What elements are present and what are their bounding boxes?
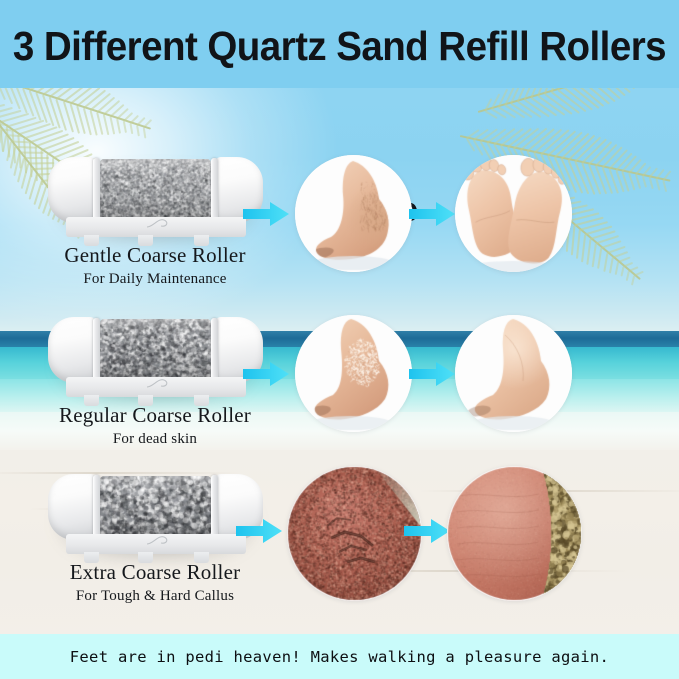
roller-body bbox=[48, 317, 263, 383]
roller-ring-left bbox=[93, 318, 100, 382]
brand-squiggle-icon bbox=[144, 375, 174, 391]
product-infographic: 3 Different Quartz Sand Refill Rollers B… bbox=[0, 0, 679, 679]
arrow-right-icon bbox=[243, 361, 289, 387]
soles-of-smooth-feet bbox=[455, 155, 572, 272]
roller-ring-right bbox=[211, 318, 218, 382]
drum-shading bbox=[100, 159, 211, 221]
product-row-gentle: Gentle Coarse Roller For Daily Maintenan… bbox=[0, 143, 679, 303]
arrow-right-icon bbox=[236, 518, 282, 544]
foot-side-view-rough-heel bbox=[295, 155, 412, 272]
arrow-right-icon bbox=[404, 518, 450, 544]
roller-use-regular: For dead skin bbox=[0, 431, 310, 448]
after-photo-gentle bbox=[455, 155, 572, 272]
drum-shading bbox=[100, 319, 211, 381]
roller-name-extra: Extra Coarse Roller bbox=[0, 560, 310, 585]
header-banner: 3 Different Quartz Sand Refill Rollers bbox=[0, 0, 679, 88]
roller-body bbox=[48, 474, 263, 540]
roller-end-cap-left bbox=[48, 474, 96, 540]
roller-ring-left bbox=[93, 158, 100, 222]
arrow-right-icon bbox=[243, 201, 289, 227]
heel-with-dead-skin bbox=[295, 315, 412, 432]
macro-cracked-callus bbox=[287, 466, 422, 601]
roller-device-gentle[interactable] bbox=[48, 151, 263, 247]
roller-device-regular[interactable] bbox=[48, 311, 263, 407]
footer-caption-text: Feet are in pedi heaven! Makes walking a… bbox=[70, 648, 609, 666]
arrow-right-icon bbox=[409, 361, 455, 387]
quartz-sand-drum bbox=[100, 476, 211, 538]
drum-shading bbox=[100, 476, 211, 538]
roller-use-extra: For Tough & Hard Callus bbox=[0, 588, 310, 605]
page-title: 3 Different Quartz Sand Refill Rollers bbox=[13, 26, 666, 67]
quartz-sand-drum bbox=[100, 159, 211, 221]
brand-squiggle-icon bbox=[144, 215, 174, 231]
product-row-regular: Regular Coarse Roller For dead skin bbox=[0, 303, 679, 463]
after-photo-extra bbox=[447, 466, 582, 601]
product-row-extra: Extra Coarse Roller For Tough & Hard Cal… bbox=[0, 460, 679, 620]
brand-squiggle-icon bbox=[144, 532, 174, 548]
before-photo-regular bbox=[295, 315, 412, 432]
after-photo-regular bbox=[455, 315, 572, 432]
smooth-clean-heel bbox=[455, 315, 572, 432]
quartz-sand-drum bbox=[100, 319, 211, 381]
roller-name-regular: Regular Coarse Roller bbox=[0, 403, 310, 428]
roller-body bbox=[48, 157, 263, 223]
roller-ring-right bbox=[211, 158, 218, 222]
footer-caption-banner: Feet are in pedi heaven! Makes walking a… bbox=[0, 634, 679, 679]
roller-ring-right bbox=[211, 475, 218, 539]
roller-ring-left bbox=[93, 475, 100, 539]
macro-smooth-skin-removed-callus bbox=[447, 466, 582, 601]
before-photo-extra bbox=[287, 466, 422, 601]
roller-end-cap-left bbox=[48, 317, 96, 383]
arrow-right-icon bbox=[409, 201, 455, 227]
roller-use-gentle: For Daily Maintenance bbox=[0, 271, 310, 288]
beach-scene-background: Before After bbox=[0, 88, 679, 634]
roller-device-extra[interactable] bbox=[48, 468, 263, 564]
before-photo-gentle bbox=[295, 155, 412, 272]
roller-end-cap-left bbox=[48, 157, 96, 223]
roller-name-gentle: Gentle Coarse Roller bbox=[0, 243, 310, 268]
